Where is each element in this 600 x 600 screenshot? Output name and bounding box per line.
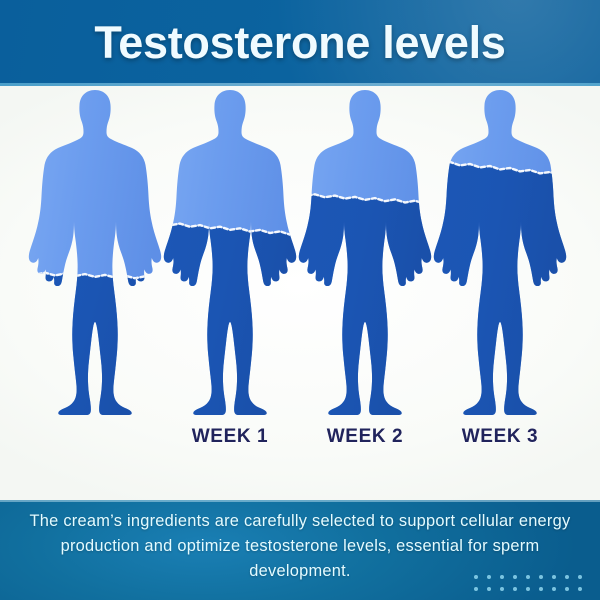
decoration-dot [565,575,569,579]
decoration-dot [513,575,517,579]
footer-banner: The cream’s ingredients are carefully se… [0,500,600,600]
figure-baseline [25,86,165,416]
decoration-dot [578,575,582,579]
decoration-dot [526,575,530,579]
decoration-dot [578,587,582,591]
silhouette-fill-layer [430,160,570,426]
silhouette-fill-layer [160,222,300,426]
decoration-dot [539,575,543,579]
decoration-dot [500,587,504,591]
silhouette-empty-layer [29,90,161,415]
footer-divider [0,500,600,502]
decoration-dot [474,575,478,579]
decoration-dot [474,587,478,591]
silhouette-group [25,90,165,426]
silhouette-fill-layer [25,272,165,426]
dot-pattern-decoration [469,571,586,595]
decoration-dot [487,587,491,591]
decoration-dot [539,587,543,591]
body-gauge-chart: WEEK 1WEEK 2WEEK 3 [0,86,600,500]
silhouette-group [295,90,435,426]
week-label-3: WEEK 3 [425,426,575,448]
decoration-dot [526,587,530,591]
page-title: Testosterone levels [0,0,600,86]
decoration-dot [487,575,491,579]
silhouette-group [160,90,300,426]
week-label-1: WEEK 1 [155,426,305,448]
decoration-dot [552,575,556,579]
week-label-2: WEEK 2 [290,426,440,448]
decoration-dot [552,587,556,591]
silhouette-fill-layer [295,193,435,426]
figure-week-1 [160,86,300,416]
decoration-dot [500,575,504,579]
header-banner: Testosterone levels [0,0,600,86]
decoration-dot [565,587,569,591]
decoration-dot [513,587,517,591]
silhouette-group [430,90,570,426]
figure-week-2 [295,86,435,416]
figure-week-3 [430,86,570,416]
infographic-canvas: Testosterone levels WEEK 1WEEK 2WEEK 3 T… [0,0,600,600]
